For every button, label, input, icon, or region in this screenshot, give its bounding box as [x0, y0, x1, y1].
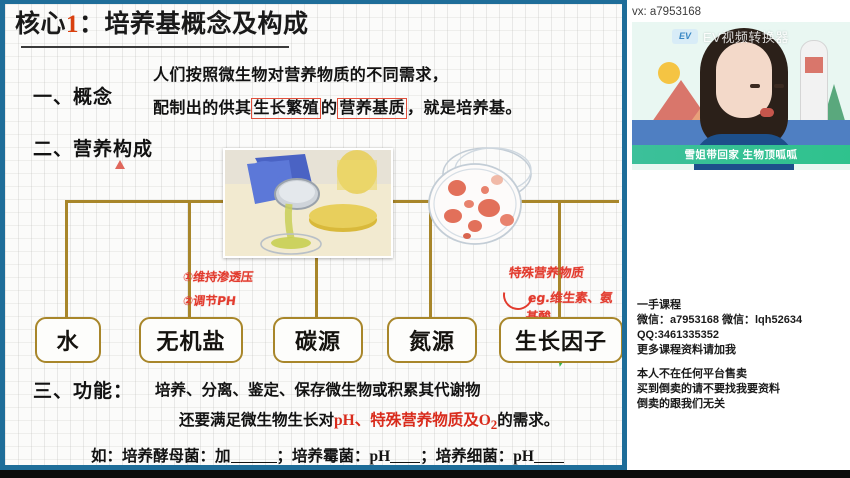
rocket-graphic — [800, 40, 828, 128]
screen: 核心1：培养基概念及构成 一、概念 人们按照微生物对营养物质的不同需求， 配制出… — [0, 0, 850, 478]
mouth — [760, 108, 774, 117]
title-prefix: 核心 — [15, 11, 66, 38]
section-3-line-2: 还要满足微生物生长对pH、特殊营养物质及O2的需求。 — [179, 408, 559, 433]
section-1-line-2: 配制出的供其生长繁殖的营养基质，就是培养基。 — [153, 94, 522, 119]
title-suffix: ：培养基概念及构成 — [79, 11, 309, 38]
node-nitrogen-source[interactable]: 氮源 — [387, 317, 477, 363]
slide-title: 核心1：培养基概念及构成 — [15, 8, 605, 44]
example-text-b: ；培养霉菌：pH — [277, 448, 391, 465]
func-text-red: pH、特殊营养物质及O — [334, 412, 491, 429]
right-panel: vx: a7953168 EV EV视频转换器 — [627, 0, 850, 478]
page-title: 核心1：培养基概念及构成 — [15, 8, 605, 42]
info-spacer — [637, 358, 847, 367]
ev-watermark: EV EV视频转换器 — [672, 26, 847, 46]
triangle-marker-icon — [115, 160, 125, 169]
info-line-4: 更多课程资料请加我 — [637, 343, 847, 358]
concept-text-a: 配制出的供其 — [153, 100, 251, 117]
video-caption-text: 雪姐带回家 生物顶呱呱 — [684, 147, 797, 162]
blank-mold[interactable] — [390, 448, 420, 463]
section-2-label: 二、营养构成 — [33, 134, 153, 161]
func-text-b: 的需求。 — [497, 412, 559, 429]
eye-right — [774, 84, 784, 88]
example-text-c: ；培养细菌：pH — [420, 448, 534, 465]
slide-canvas: 核心1：培养基概念及构成 一、概念 人们按照微生物对营养物质的不同需求， 配制出… — [5, 4, 622, 465]
handwriting-salt-note-2: ②调节PH — [182, 292, 237, 309]
vx-contact-label: vx: a7953168 — [632, 6, 701, 18]
highlight-box-substrate: 营养基质 — [337, 98, 407, 119]
handwriting-salt-note-1: ①维持渗透压 — [182, 268, 254, 285]
pouring-agar-illustration — [225, 150, 391, 256]
section-3-label: 三、功能： — [33, 376, 133, 403]
photo-pouring-agar — [223, 148, 393, 258]
eye-left — [750, 84, 760, 88]
node-water[interactable]: 水 — [35, 317, 101, 363]
sun-graphic — [658, 62, 680, 84]
blank-bacteria[interactable] — [534, 448, 564, 463]
bottom-black-strip — [0, 470, 850, 478]
info-line-2: 微信：a7953168 微信：lqh52634 — [637, 313, 847, 328]
node-growth-factor[interactable]: 生长因子 — [499, 317, 622, 363]
highlight-box-growth: 生长繁殖 — [251, 98, 321, 119]
colony-dish-illustration — [423, 146, 541, 250]
section-1-line-1: 人们按照微生物对营养物质的不同需求， — [153, 61, 448, 85]
info-line-5: 本人不在任何平台售卖 — [637, 367, 847, 382]
concept-text-b: 的 — [321, 100, 337, 117]
node-carbon-source[interactable]: 碳源 — [273, 317, 363, 363]
ev-watermark-text: EV视频转换器 — [703, 27, 789, 46]
video-player[interactable]: EV EV视频转换器 雪姐带回家 生物顶呱呱 — [632, 22, 850, 170]
func-text-a: 还要满足微生物生长对 — [179, 412, 334, 429]
bracket-stem-water — [65, 200, 68, 317]
video-caption-banner: 雪姐带回家 生物顶呱呱 — [632, 145, 850, 164]
info-line-6: 买到倒卖的请不要找我要资料 — [637, 382, 847, 397]
face-shape — [716, 42, 772, 118]
section-1-label: 一、概念 — [33, 82, 113, 109]
section-3-line-1: 培养、分离、鉴定、保存微生物或积累其代谢物 — [155, 378, 481, 400]
title-number: 1 — [66, 11, 79, 38]
blank-yeast[interactable] — [231, 448, 277, 463]
concept-text-c: ，就是培养基。 — [407, 100, 522, 117]
ev-logo-icon: EV — [672, 29, 698, 44]
node-inorganic-salt[interactable]: 无机盐 — [139, 317, 243, 363]
example-text-a: 如：培养酵母菌：加 — [91, 448, 231, 465]
handwriting-growth-note-1: 特殊营养物质 — [508, 262, 585, 281]
info-line-1: 一手课程 — [637, 298, 847, 313]
info-line-7: 倒卖的跟我们无关 — [637, 397, 847, 412]
photo-colony-dish — [423, 146, 541, 250]
course-contact-info: 一手课程 微信：a7953168 微信：lqh52634 QQ:34613353… — [637, 298, 847, 412]
title-underline — [21, 46, 289, 48]
section-3-line-3: 如：培养酵母菌：加；培养霉菌：pH；培养细菌：pH — [91, 444, 564, 465]
slide-frame: 核心1：培养基概念及构成 一、概念 人们按照微生物对营养物质的不同需求， 配制出… — [0, 0, 627, 470]
info-line-3: QQ:3461335352 — [637, 328, 847, 343]
